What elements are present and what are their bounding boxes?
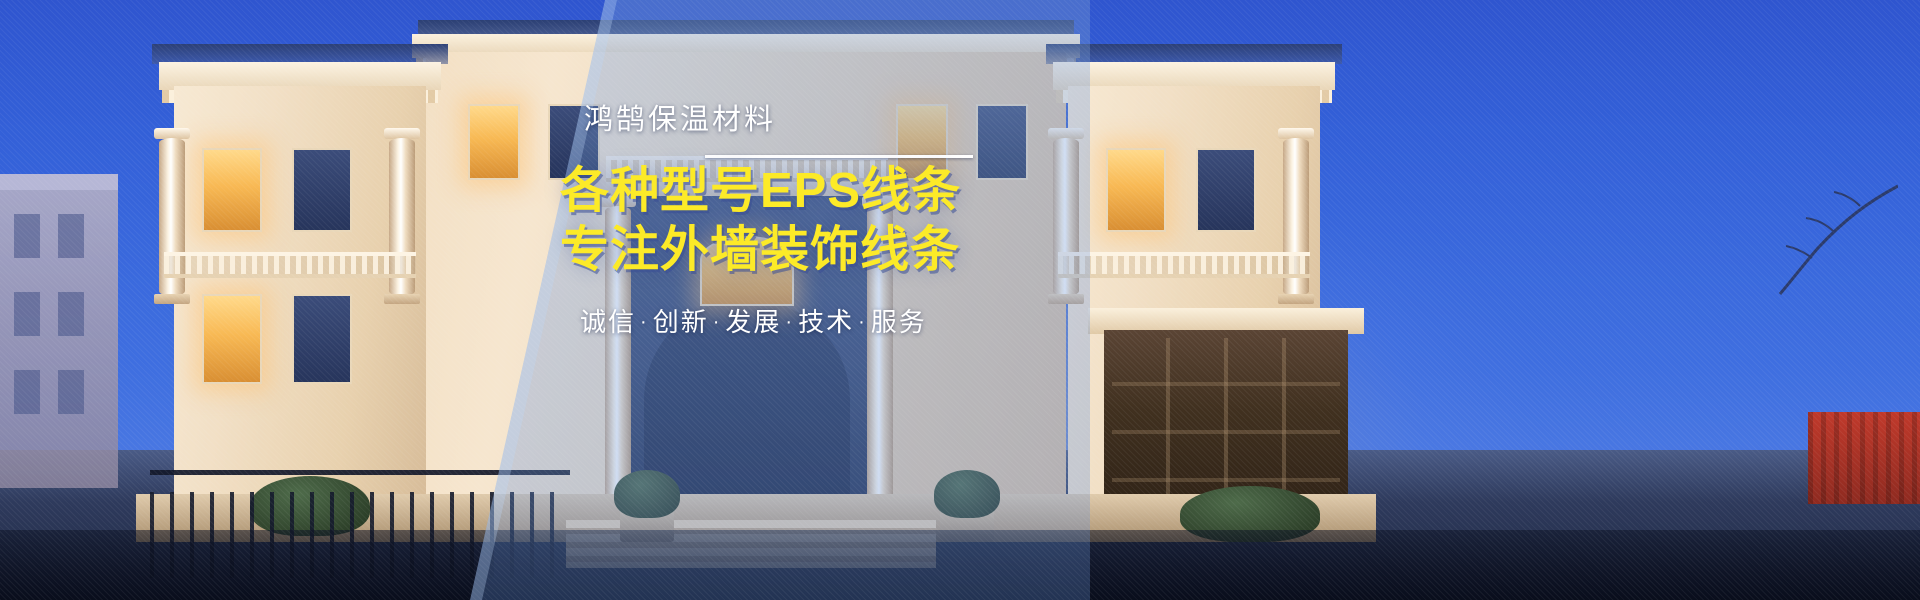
roof-ridge-right <box>1046 44 1342 64</box>
banner-copy: 鸿鹄保温材料 各种型号EPS线条 专注外墙装饰线条 诚信·创新·发展·技术·服务 <box>560 96 1030 339</box>
divider-rule <box>705 155 973 158</box>
window <box>292 148 352 232</box>
headline-line-2: 专注外墙装饰线条 <box>560 221 1030 280</box>
banner-hero: 鸿鹄保温材料 各种型号EPS线条 专注外墙装饰线条 诚信·创新·发展·技术·服务 <box>0 0 1920 600</box>
tagline-item: 诚信 <box>580 307 636 337</box>
window <box>1196 148 1256 232</box>
tagline-separator: · <box>636 311 653 333</box>
shipping-container <box>1808 412 1920 504</box>
window <box>292 294 352 384</box>
window-lit <box>202 148 262 232</box>
brand-name: 鸿鹄保温材料 <box>560 96 1030 138</box>
tagline-separator: · <box>709 311 726 333</box>
balustrade-left <box>164 252 416 278</box>
balustrade-right <box>1058 252 1310 278</box>
tagline: 诚信·创新·发展·技术·服务 <box>560 302 1030 339</box>
tagline-item: 技术 <box>798 307 854 337</box>
window-lit <box>468 104 520 180</box>
tagline-item: 发展 <box>725 307 781 337</box>
tagline-separator: · <box>781 311 798 333</box>
roof-ridge-left <box>152 44 448 64</box>
tagline-separator: · <box>854 311 871 333</box>
tree-branch-icon <box>1748 176 1898 296</box>
headline-line-1: 各种型号EPS线条 <box>560 162 1030 221</box>
tagline-item: 创新 <box>653 307 709 337</box>
window-lit <box>202 294 262 384</box>
window-lit <box>1106 148 1166 232</box>
tagline-item: 服务 <box>871 307 927 337</box>
